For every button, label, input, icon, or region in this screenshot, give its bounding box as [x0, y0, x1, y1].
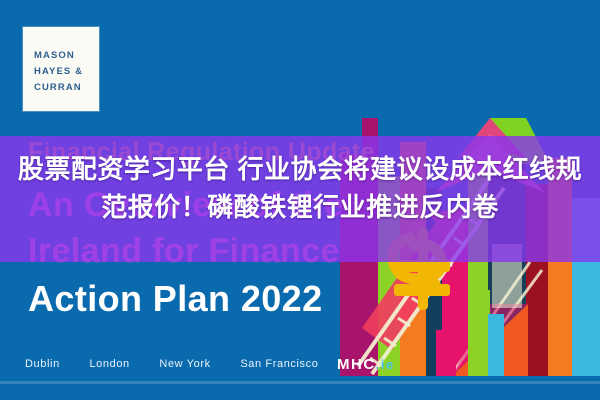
overlay-headline-line-2: 范报价！磷酸铁锂行业推进反内卷	[0, 188, 600, 226]
poster-image: Financial Regulation Update An Overview …	[0, 0, 600, 400]
logo-line-2: HAYES &	[34, 64, 83, 80]
office-new-york: New York	[159, 358, 210, 370]
overlay-headline-line-1: 股票配资学习平台 行业协会将建议设成本红线规	[0, 150, 600, 188]
logo-wordmark: MASON HAYES & CURRAN	[34, 48, 83, 96]
office-london: London	[89, 358, 129, 370]
mhc-letters: MHC	[337, 356, 376, 373]
office-san-francisco: San Francisco	[240, 358, 318, 370]
logo-line-3: CURRAN	[34, 80, 83, 96]
mhc-domain-suffix: .ie	[376, 357, 395, 372]
office-locations: Dublin London New York San Francisco	[25, 358, 344, 370]
mhc-website-wordmark: MHC.ie	[337, 356, 395, 373]
bottom-divider	[0, 381, 600, 384]
office-dublin: Dublin	[25, 358, 60, 370]
mason-hayes-curran-logo: MASON HAYES & CURRAN	[23, 27, 99, 111]
poster-title-line-4: Action Plan 2022	[28, 278, 323, 320]
overlay-headline: 股票配资学习平台 行业协会将建议设成本红线规 范报价！磷酸铁锂行业推进反内卷	[0, 150, 600, 226]
logo-line-1: MASON	[34, 48, 83, 64]
